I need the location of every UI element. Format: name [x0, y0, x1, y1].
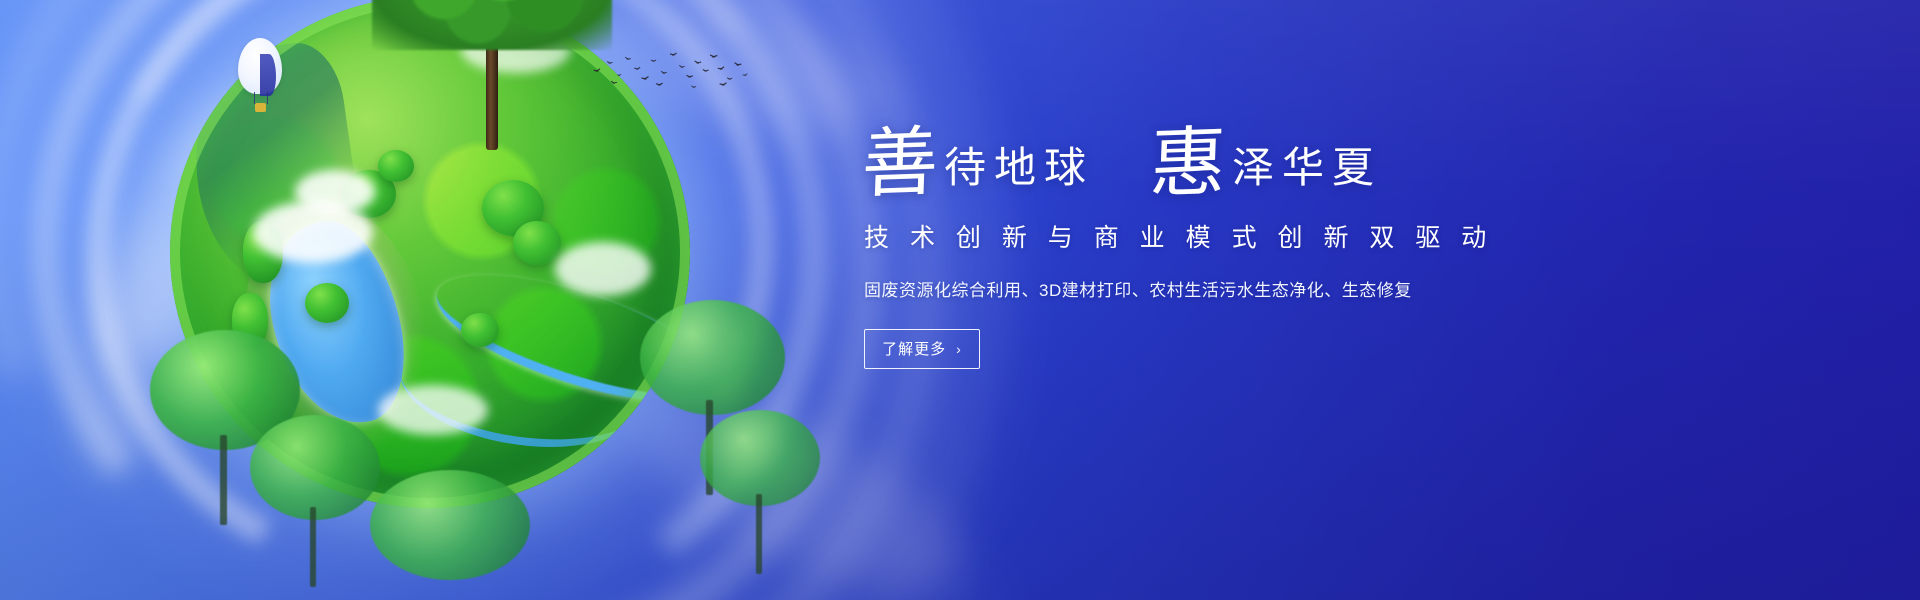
learn-more-label: 了解更多 — [882, 338, 946, 359]
bird-icon — [709, 55, 718, 61]
hero-banner: 善 待地球 惠 泽华夏 技 术 创 新 与 商 业 模 式 创 新 双 驱 动 … — [0, 0, 1920, 600]
bird-icon — [641, 77, 651, 84]
bird-icon — [609, 81, 617, 87]
bird-icon — [742, 74, 749, 79]
bird-flock-icon — [590, 48, 750, 94]
tree-canopy — [370, 470, 530, 580]
bird-icon — [690, 86, 696, 90]
bird-icon — [593, 69, 602, 76]
headline-text-zehuaxia: 泽华夏 — [1232, 148, 1382, 198]
bird-icon — [685, 75, 693, 80]
tree-trunk — [756, 494, 762, 574]
banner-content: 善 待地球 惠 泽华夏 技 术 创 新 与 商 业 模 式 创 新 双 驱 动 … — [862, 128, 1622, 369]
banner-description: 固废资源化综合利用、3D建材打印、农村生活污水生态净化、生态修复 — [864, 276, 1622, 301]
balloon-basket — [255, 103, 266, 112]
page-title: 善 待地球 惠 泽华夏 — [862, 128, 1622, 198]
balloon-stripe — [260, 54, 276, 96]
bird-icon — [624, 57, 632, 63]
bird-icon — [655, 83, 664, 88]
bird-icon — [702, 70, 710, 75]
bird-icon — [733, 63, 742, 69]
bird-icon — [693, 61, 702, 67]
learn-more-button[interactable]: 了解更多 › — [864, 329, 980, 369]
bird-icon — [606, 61, 613, 66]
tree-trunk — [310, 507, 316, 587]
banner-subtitle: 技 术 创 新 与 商 业 模 式 创 新 双 驱 动 — [864, 218, 1622, 254]
bird-icon — [717, 67, 726, 74]
tree-canopy — [372, 0, 612, 50]
headline-char-hui: 惠 — [1149, 127, 1228, 200]
headline-text-daidiqiu: 待地球 — [944, 148, 1094, 198]
bird-icon — [678, 65, 686, 70]
hot-air-balloon-icon — [238, 38, 282, 118]
bird-icon — [650, 60, 656, 64]
headline-char-shan: 善 — [861, 127, 940, 200]
bird-icon — [617, 74, 623, 78]
tree-canopy — [250, 415, 380, 520]
chevron-right-icon: › — [956, 341, 962, 357]
tree-trunk — [220, 435, 227, 525]
bird-icon — [726, 78, 733, 82]
tree-canopy — [700, 410, 820, 506]
bird-icon — [719, 83, 728, 89]
tree-canopy — [640, 300, 785, 415]
bird-icon — [634, 67, 642, 72]
bird-icon — [660, 71, 668, 76]
bird-icon — [669, 53, 678, 58]
